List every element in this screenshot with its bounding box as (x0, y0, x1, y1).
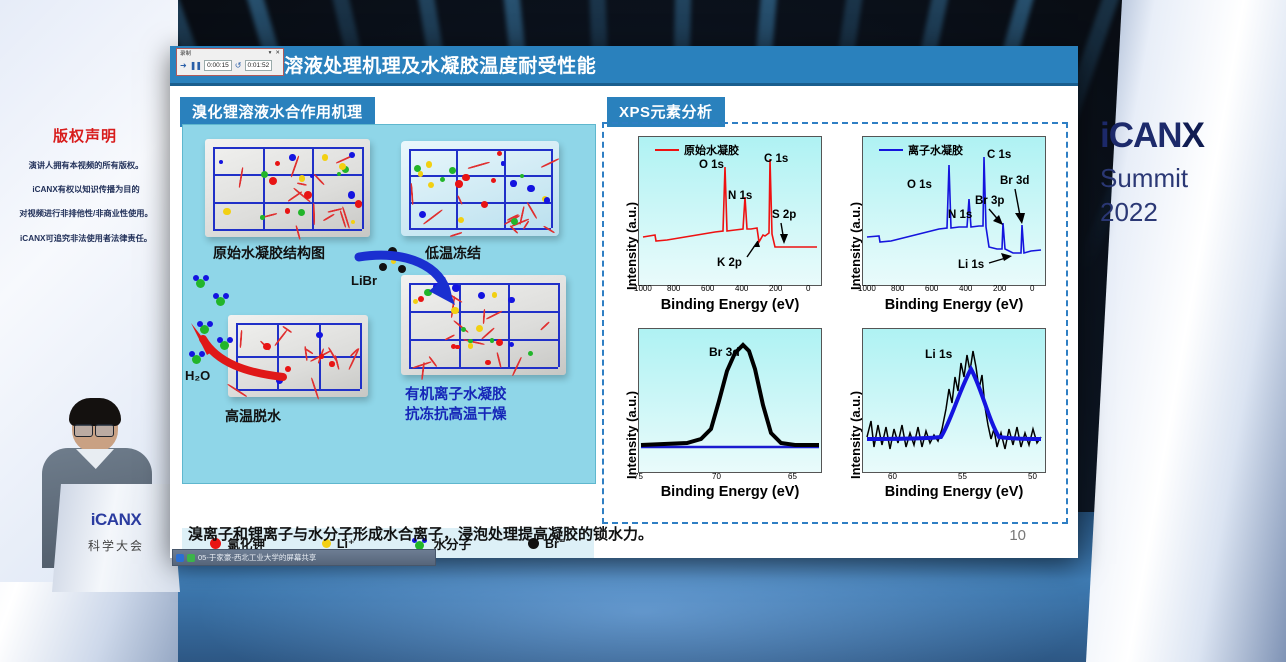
hydrogel-block-frozen (401, 141, 559, 236)
chart3-peak-Br3d: Br 3d (709, 345, 740, 359)
label-original-structure: 原始水凝胶结构图 (213, 243, 325, 263)
chart4-ylabel: Intensity (a.u.) (848, 391, 863, 479)
copyright-body: 演讲人拥有本视频的所有版权。 iCANX有权以知识传播为目的 对视频进行非排他性… (10, 158, 162, 255)
pause-icon[interactable]: ❚❚ (190, 61, 201, 70)
chart3-xlabel: Binding Energy (eV) (630, 484, 830, 500)
hydrogel-block-original (205, 139, 370, 237)
share-icon (187, 554, 195, 562)
monitor-icon (176, 554, 184, 562)
recording-toolbar[interactable]: 录制 ▾ ✕ ➜ ❚❚ 0:00:15 ↺ 0:01:52 (176, 48, 284, 76)
glasses-left-icon (74, 424, 93, 437)
undo-icon[interactable]: ↺ (235, 61, 242, 70)
chart4-peak-Li1s: Li 1s (925, 347, 952, 361)
total-time: 0:01:52 (245, 60, 273, 71)
chart3-ylabel: Intensity (a.u.) (624, 391, 639, 479)
presentation-slide: 2.2 离子盐溶液处理机理及水凝胶温度耐受性能 溴化锂溶液水合作用机理 XPS元… (170, 46, 1078, 558)
arrow-blue-icon (351, 243, 461, 313)
xps-analysis-container: Intensity (a.u.) 原始水凝胶 O 1s N 1s C 1s S … (602, 122, 1068, 524)
brand-year: 2022 (1100, 199, 1260, 225)
recording-toolbar-title: 录制 (180, 49, 191, 57)
chart4-xlabel: Binding Energy (eV) (854, 484, 1054, 500)
label-product-line2: 抗冻抗高温干燥 (405, 403, 507, 424)
label-product-line1: 有机离子水凝胶 (405, 383, 507, 404)
stage-background: 版权声明 演讲人拥有本视频的所有版权。 iCANX有权以知识传播为目的 对视频进… (0, 0, 1286, 662)
chart2-plot: 离子水凝胶 O 1s N 1s C 1s Br 3p Br 3d Li 1s (862, 136, 1046, 286)
copyright-line-2: iCANX有权以知识传播为目的 (10, 182, 162, 197)
chart1-annotation-arrows (639, 137, 821, 285)
label-dehydrate: 高温脱水 (225, 406, 281, 426)
podium-logo-left: iCANX (52, 510, 180, 530)
brand-name: iCANX (1100, 118, 1260, 153)
chart4-trace (863, 329, 1045, 472)
chart-xps-li1s: Intensity (a.u.) Li 1s 60 55 50 Binding … (836, 324, 1054, 514)
copyright-title: 版权声明 (0, 125, 170, 146)
chart-xps-br3d: Intensity (a.u.) Br 3d 75 70 65 Binding … (612, 324, 830, 514)
chart2-annotation-arrows (863, 137, 1045, 285)
podium-left: iCANX 科学大会 (52, 484, 180, 592)
chart1-ylabel: Intensity (a.u.) (624, 202, 639, 290)
play-arrow-icon[interactable]: ➜ (180, 61, 187, 70)
polymer-network (213, 147, 362, 229)
close-icon[interactable]: ✕ (275, 50, 280, 56)
slide-page-number: 10 (1009, 527, 1026, 544)
glasses-right-icon (95, 424, 114, 437)
slide-body: 溴化锂溶液水合作用机理 XPS元素分析 (170, 86, 1078, 558)
screen-share-statusbar[interactable]: 05-于家豪-西北工业大学的屏幕共享 (172, 549, 436, 566)
chevron-down-icon[interactable]: ▾ (269, 50, 272, 56)
chart-xps-survey-original: Intensity (a.u.) 原始水凝胶 O 1s N 1s C 1s S … (612, 132, 830, 322)
hydrogel-mechanism-diagram: 原始水凝胶结构图 低温冻结 LiBr H₂O 高温脱水 有机离子水凝胶 抗冻抗高… (182, 124, 596, 484)
polymer-network (409, 149, 551, 228)
water-molecule-icon (197, 321, 213, 333)
chart2-ylabel: Intensity (a.u.) (848, 202, 863, 290)
water-molecule-icon (213, 293, 229, 305)
podium-sub-left: 科学大会 (52, 537, 180, 554)
copyright-line-1: 演讲人拥有本视频的所有版权。 (10, 158, 162, 173)
chart3-plot: Br 3d (638, 328, 822, 473)
copyright-line-4: iCANX可追究非法使用者法律责任。 (10, 231, 162, 246)
chart-xps-survey-ionic: Intensity (a.u.) 离子水凝胶 O 1s N 1s C 1s Br… (836, 132, 1054, 322)
brand-block: iCANX Summit 2022 (1100, 118, 1260, 225)
water-molecule-icon (217, 337, 233, 349)
share-status-text: 05-于家豪-西北工业大学的屏幕共享 (198, 552, 316, 563)
copyright-line-3: 对视频进行非排他性/非商业性使用。 (10, 206, 162, 221)
water-molecule-icon (193, 275, 209, 287)
brand-summit: Summit (1100, 165, 1260, 191)
recording-toolbar-header: 录制 ▾ ✕ (177, 49, 283, 57)
chart1-plot: 原始水凝胶 O 1s N 1s C 1s S 2p K 2p (638, 136, 822, 286)
section-tag-left: 溴化锂溶液水合作用机理 (180, 97, 375, 127)
recording-toolbar-controls: ➜ ❚❚ 0:00:15 ↺ 0:01:52 (177, 57, 283, 73)
slide-caption: 溴离子和锂离子与水分子形成水合离子，浸泡处理提高凝胶的锁水力。 (188, 523, 653, 544)
chart2-xlabel: Binding Energy (eV) (854, 297, 1054, 313)
water-molecule-icon (189, 351, 205, 363)
slide-title: 2.2 离子盐溶液处理机理及水凝胶温度耐受性能 (170, 46, 1078, 83)
elapsed-time: 0:00:15 (204, 60, 232, 71)
chart1-xlabel: Binding Energy (eV) (630, 297, 830, 313)
chart4-plot: Li 1s (862, 328, 1046, 473)
